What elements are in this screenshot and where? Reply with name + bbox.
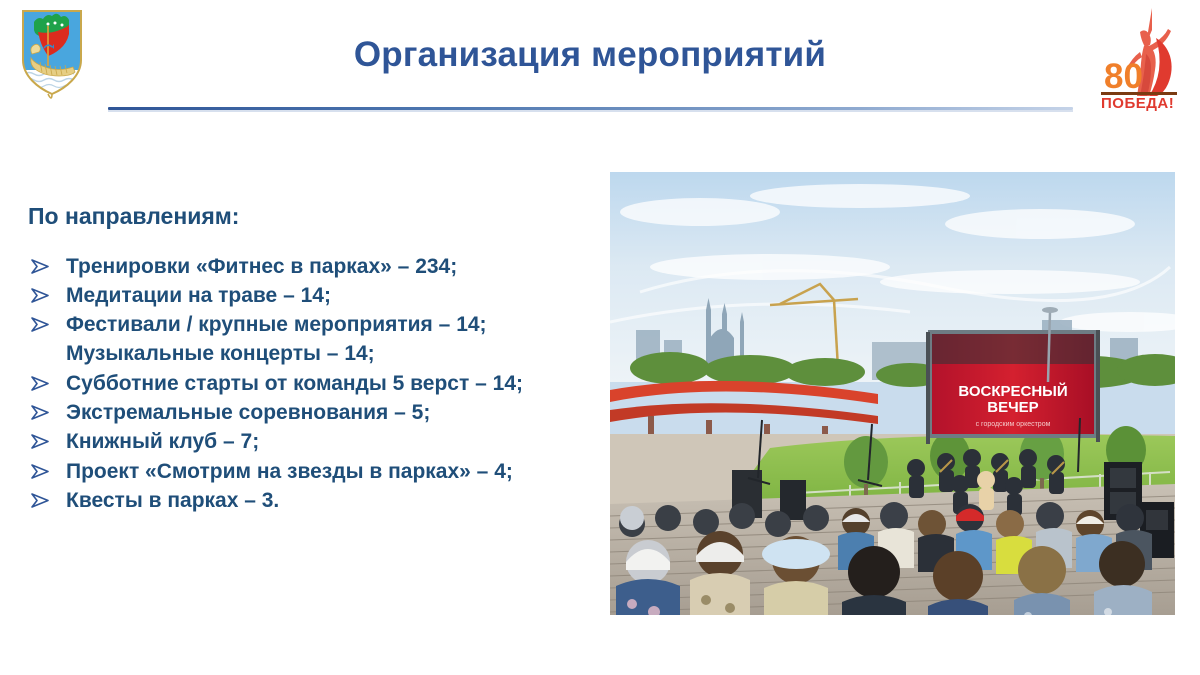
arrow-bullet-icon xyxy=(31,428,53,454)
list-item-dash: – xyxy=(471,460,494,483)
slide-canvas: Организация мероприятий 80 ПОБЕДА! xyxy=(0,0,1200,675)
list-item-label: Субботние старты от команды 5 верст xyxy=(66,372,469,395)
list-item-label: Квесты в парках xyxy=(66,489,238,512)
list-item-label: Фестивали / крупные мероприятия xyxy=(66,313,433,336)
list-item: Фестивали / крупные мероприятия – 14; xyxy=(28,311,603,338)
arrow-bullet-icon xyxy=(31,399,53,425)
list-item-label: Книжный клуб xyxy=(66,430,217,453)
content-column: По направлениям: Тренировки «Фитнес в па… xyxy=(28,203,603,516)
list-item-dash: – xyxy=(388,401,411,424)
svg-text:ВЕЧЕР: ВЕЧЕР xyxy=(987,399,1038,416)
list-item-dash: – xyxy=(277,284,300,307)
arrow-bullet-icon xyxy=(31,487,53,513)
list-item-dash: – xyxy=(217,430,240,453)
list-item-count: 14; xyxy=(344,342,374,365)
list-item: Книжный клуб – 7; xyxy=(28,428,603,455)
list-item-dash: – xyxy=(469,372,492,395)
list-item: Медитации на траве – 14; xyxy=(28,282,603,309)
list-item-label: Экстремальные соревнования xyxy=(66,401,388,424)
list-item-dash: – xyxy=(392,255,415,278)
header-divider-shadow xyxy=(108,110,1073,112)
list-item-count: 14; xyxy=(301,284,331,307)
list-item-count: 14; xyxy=(493,372,523,395)
list-item-count: 3. xyxy=(262,489,280,512)
list-item-label: Медитации на траве xyxy=(66,284,277,307)
arrow-bullet-icon xyxy=(31,370,53,396)
arrow-bullet-icon xyxy=(31,311,53,337)
list-item-count: 5; xyxy=(412,401,431,424)
outdoor-concert-photo: ВОСКРЕСНЫЙ ВЕЧЕР с городским оркестром xyxy=(610,172,1175,615)
arrow-bullet-icon xyxy=(31,458,53,484)
banner-text: ВОСКРЕСНЫЙ xyxy=(958,382,1067,400)
list-item-label: Тренировки «Фитнес в парках» xyxy=(66,255,392,278)
victory-logo-number: 80 xyxy=(1104,57,1143,96)
page-title: Организация мероприятий xyxy=(110,36,1070,75)
list-item-label: Проект «Смотрим на звезды в парках» xyxy=(66,460,471,483)
coat-of-arms-icon xyxy=(18,8,86,100)
list-item-count: 14; xyxy=(456,313,486,336)
victory-logo-caption: ПОБЕДА! xyxy=(1101,95,1174,112)
svg-text:с городским оркестром: с городским оркестром xyxy=(976,421,1051,428)
lead-in-text: По направлениям: xyxy=(28,203,603,231)
victory-80-logo-icon: 80 ПОБЕДА! xyxy=(1090,2,1182,112)
list-item-count: 4; xyxy=(494,460,513,483)
list-item: Субботние старты от команды 5 верст – 14… xyxy=(28,370,603,397)
arrow-bullet-icon xyxy=(31,253,53,279)
list-item-dash: – xyxy=(321,342,344,365)
list-item-label: Музыкальные концерты xyxy=(66,342,321,365)
list-item-dash: – xyxy=(433,313,456,336)
list-item: Экстремальные соревнования – 5; xyxy=(28,399,603,426)
list-item-count: 7; xyxy=(241,430,260,453)
list-item: Тренировки «Фитнес в парках» – 234; xyxy=(28,253,603,280)
list-item-dash: – xyxy=(238,489,261,512)
list-item-count: 234; xyxy=(415,255,457,278)
arrow-bullet-icon xyxy=(31,282,53,308)
list-item: Музыкальные концерты – 14; xyxy=(28,340,603,367)
list-item: Квесты в парках – 3. xyxy=(28,487,603,514)
directions-list: Тренировки «Фитнес в парках» – 234;Медит… xyxy=(28,253,603,515)
list-item: Проект «Смотрим на звезды в парках» – 4; xyxy=(28,458,603,485)
